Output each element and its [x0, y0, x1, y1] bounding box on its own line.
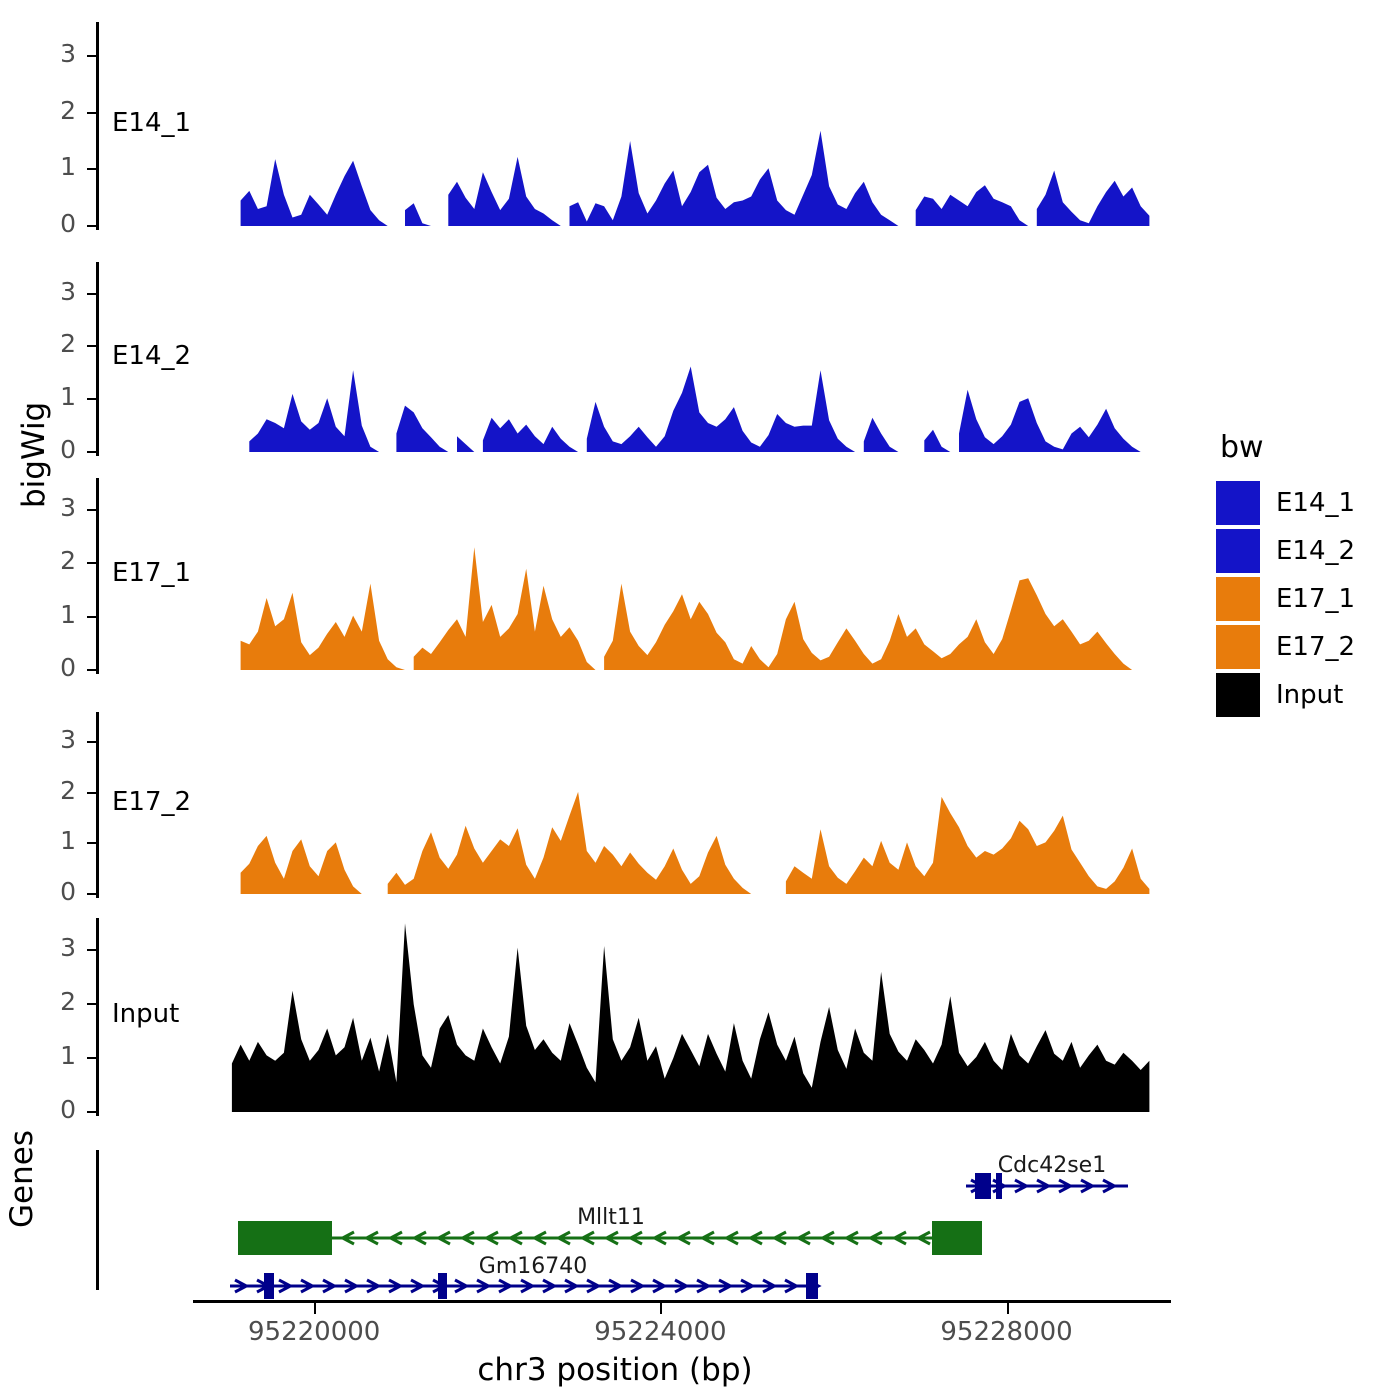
y-tick-label: 2: [10, 546, 76, 575]
y-tick: [87, 451, 96, 453]
gene-cdc42se1: Cdc42se1: [966, 1153, 1128, 1199]
y-tick: [87, 669, 96, 671]
legend-swatch-e14_1: [1216, 481, 1260, 525]
gene-track-axis: [96, 1150, 99, 1290]
legend-label: Input: [1276, 680, 1343, 710]
y-tick-label: 3: [10, 725, 76, 754]
x-tick: [1007, 1303, 1009, 1314]
legend-items: E14_1E14_2E17_1E17_2Input: [1216, 479, 1396, 719]
x-tick-label: 95224000: [594, 1317, 726, 1347]
y-tick: [87, 616, 96, 618]
legend-item-e14_1[interactable]: E14_1: [1216, 479, 1396, 527]
y-tick: [87, 562, 96, 564]
y-tick: [87, 1111, 96, 1113]
y-tick: [87, 55, 96, 57]
legend-item-e17_2[interactable]: E17_2: [1216, 623, 1396, 671]
y-tick-label: 2: [10, 987, 76, 1016]
panel-name-label: E14_1: [112, 108, 191, 138]
y-tick: [87, 741, 96, 743]
y-tick: [87, 168, 96, 170]
y-tick: [87, 398, 96, 400]
gene-label-gm16740: Gm16740: [479, 1254, 587, 1279]
legend-swatch-input: [1216, 673, 1260, 717]
y-tick: [87, 225, 96, 227]
y-tick: [87, 1003, 96, 1005]
gene-gm16740: Gm16740: [230, 1254, 818, 1299]
legend: bw E14_1E14_2E17_1E17_2Input: [1216, 430, 1396, 719]
y-tick-label: 1: [10, 152, 76, 181]
y-tick-label: 2: [10, 96, 76, 125]
y-tick: [87, 1057, 96, 1059]
y-tick-label: 2: [10, 776, 76, 805]
y-tick-label: 3: [10, 39, 76, 68]
y-axis-line: [96, 478, 99, 674]
legend-label: E17_1: [1276, 584, 1355, 614]
gene-label-cdc42se1: Cdc42se1: [998, 1153, 1106, 1178]
y-tick-label: 3: [10, 933, 76, 962]
y-tick-label: 0: [10, 877, 76, 906]
panel-name-label: E17_1: [112, 558, 191, 588]
legend-swatch-e17_2: [1216, 625, 1260, 669]
legend-item-e14_2[interactable]: E14_2: [1216, 527, 1396, 575]
y-tick: [87, 893, 96, 895]
y-tick-label: 0: [10, 209, 76, 238]
legend-label: E17_2: [1276, 632, 1355, 662]
x-axis-line: [193, 1300, 1171, 1303]
legend-item-input[interactable]: Input: [1216, 671, 1396, 719]
gene-annotation-track: Cdc42se1Mllt11Gm16740: [0, 1150, 1400, 1310]
panel-name-label: E17_2: [112, 787, 191, 817]
x-tick-label: 95220000: [248, 1317, 380, 1347]
y-tick-label: 0: [10, 653, 76, 682]
y-axis-line: [96, 712, 99, 898]
y-tick-label: 3: [10, 277, 76, 306]
y-axis-line: [96, 918, 99, 1116]
y-tick-label: 0: [10, 1095, 76, 1124]
gene-label-mllt11: Mllt11: [577, 1205, 645, 1230]
y-tick-label: 2: [10, 329, 76, 358]
y-tick-label: 1: [10, 1041, 76, 1070]
legend-label: E14_1: [1276, 488, 1355, 518]
y-tick-label: 1: [10, 600, 76, 629]
genome-browser-figure: bigWig Genes 0123E14_10123E14_20123E17_1…: [0, 0, 1400, 1400]
x-tick: [660, 1303, 662, 1314]
y-tick: [87, 293, 96, 295]
legend-title: bw: [1220, 430, 1396, 465]
y-axis-label: bigWig: [16, 468, 52, 508]
panel-name-label: Input: [112, 999, 179, 1029]
y-tick: [87, 112, 96, 114]
legend-swatch-e14_2: [1216, 529, 1260, 573]
y-axis-line: [96, 22, 99, 230]
y-tick: [87, 345, 96, 347]
y-tick-label: 1: [10, 826, 76, 855]
genes-svg: Cdc42se1Mllt11Gm16740: [0, 1150, 1400, 1310]
y-axis-line: [96, 262, 99, 456]
y-tick: [87, 949, 96, 951]
y-tick: [87, 792, 96, 794]
x-axis-title: chr3 position (bp): [0, 1352, 1230, 1388]
x-tick: [314, 1303, 316, 1314]
legend-swatch-e17_1: [1216, 577, 1260, 621]
y-tick: [87, 509, 96, 511]
panel-name-label: E14_2: [112, 341, 191, 371]
legend-label: E14_2: [1276, 536, 1355, 566]
y-tick: [87, 842, 96, 844]
gene-mllt11: Mllt11: [238, 1205, 982, 1255]
legend-item-e17_1[interactable]: E17_1: [1216, 575, 1396, 623]
x-tick-label: 95228000: [940, 1317, 1072, 1347]
